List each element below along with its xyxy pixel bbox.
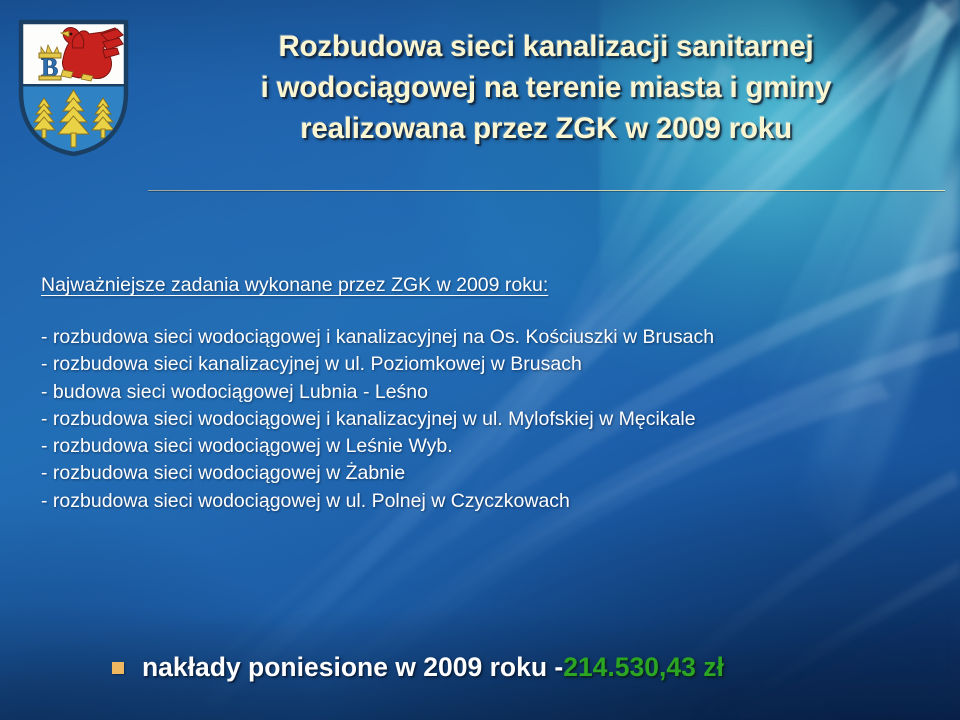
list-item: - rozbudowa sieci wodociągowej i kanaliz… [41,406,921,433]
list-item: - rozbudowa sieci wodociągowej w ul. Pol… [41,488,921,515]
footer-label: nakłady poniesione w 2009 roku - [142,652,563,683]
slide-title-line-3: realizowana przez ZGK w 2009 roku [140,108,952,149]
slide-body: Najważniejsze zadania wykonane przez ZGK… [41,272,921,515]
footer-summary: nakłady poniesione w 2009 roku - 214.530… [112,652,724,683]
list-item: - rozbudowa sieci wodociągowej w Żabnie [41,460,921,487]
body-heading: Najważniejsze zadania wykonane przez ZGK… [41,272,921,298]
body-spacer [41,298,921,324]
coat-of-arms-brusy-icon: B [17,18,130,158]
slide-title: Rozbudowa sieci kanalizacji sanitarnej i… [140,26,952,149]
slide-content: B [0,0,960,720]
slide-title-line-1: Rozbudowa sieci kanalizacji sanitarnej [140,26,952,67]
square-bullet-icon [112,662,124,674]
slide-title-line-2: i wodociągowej na terenie miasta i gminy [140,67,952,108]
list-item: - rozbudowa sieci wodociągowej i kanaliz… [41,324,921,351]
list-item: - rozbudowa sieci wodociągowej w Leśnie … [41,433,921,460]
list-item: - budowa sieci wodociągowej Lubnia - Leś… [41,379,921,406]
list-item: - rozbudowa sieci kanalizacyjnej w ul. P… [41,351,921,378]
footer-amount: 214.530,43 zł [563,652,724,683]
presentation-slide: B [0,0,960,720]
title-divider-rule [148,190,945,191]
